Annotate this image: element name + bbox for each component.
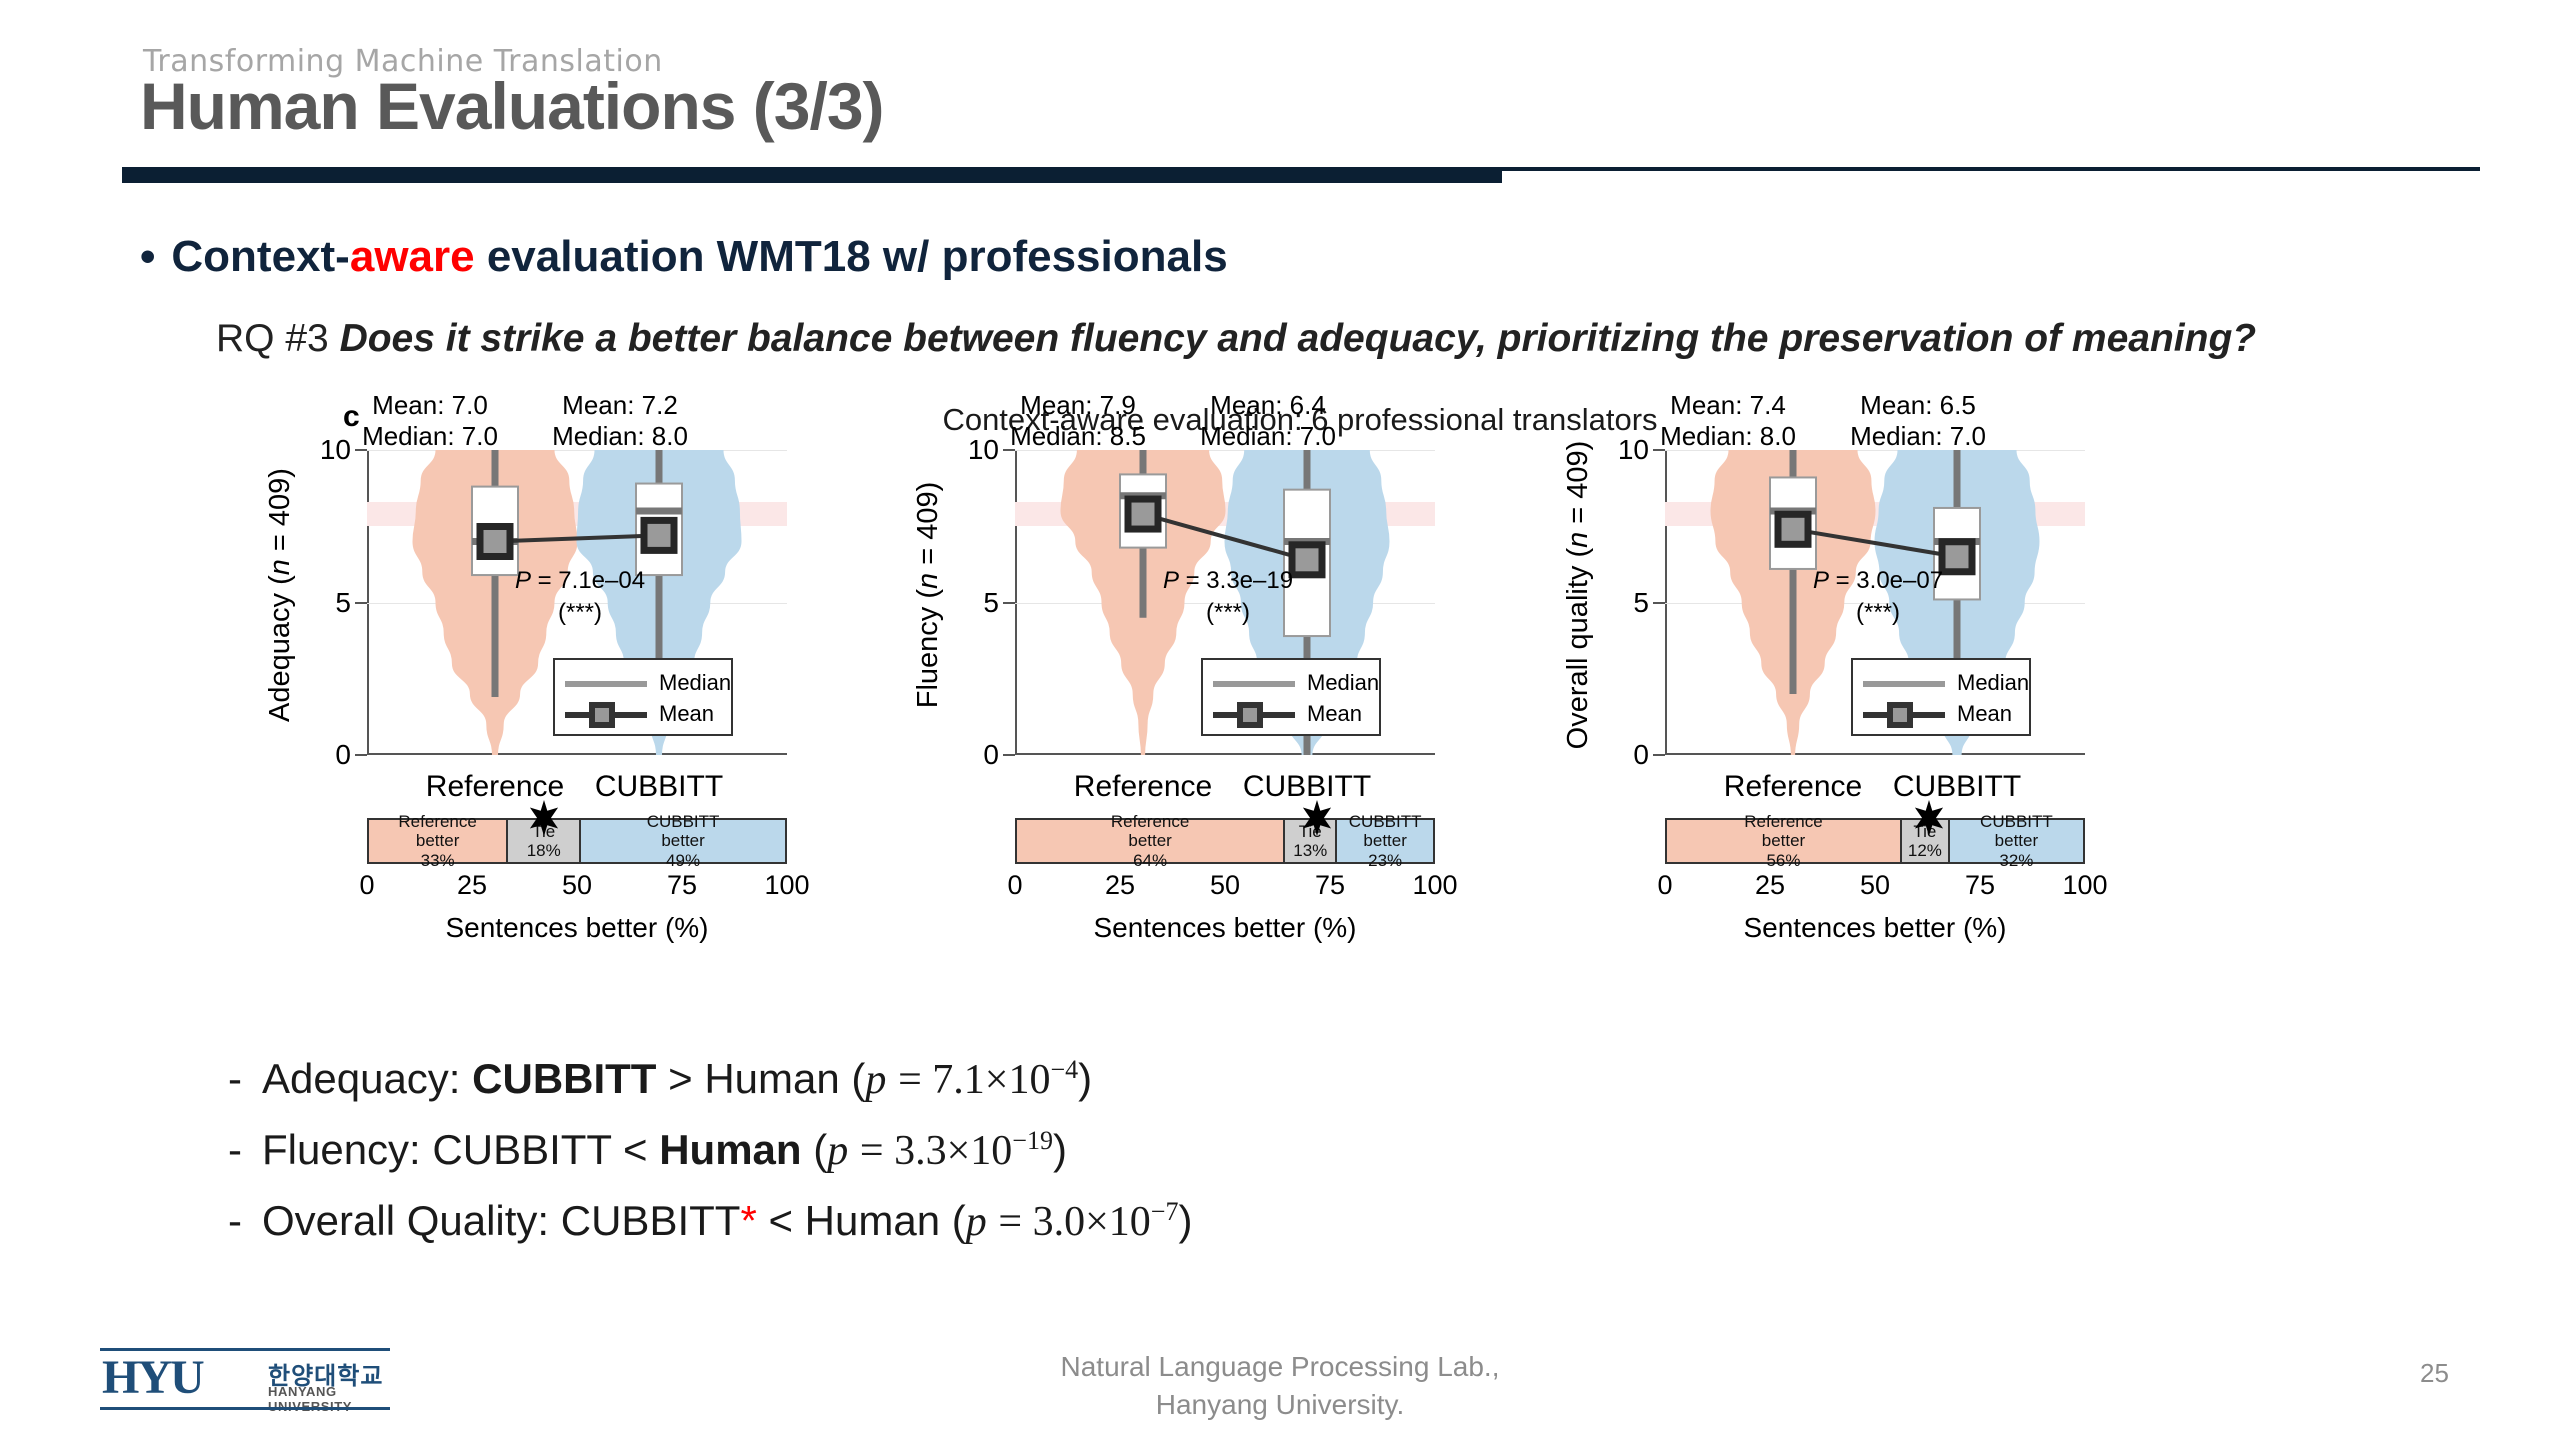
p-value-text: P = 7.1e–04 — [485, 565, 675, 597]
bar-x-tick: 50 — [562, 870, 592, 901]
finding-loser: Human — [805, 1197, 940, 1244]
median-text: Median: 8.5 — [968, 421, 1188, 452]
category-label-reference: Reference — [1724, 770, 1862, 804]
footer-note: Natural Language Processing Lab.,Hanyang… — [0, 1348, 2560, 1424]
segment-label: better — [661, 831, 704, 850]
slide-header: Transforming Machine Translation Human E… — [0, 0, 2560, 190]
bar-x-tick: 75 — [1315, 870, 1345, 901]
mean-text: Mean: 7.9 — [968, 390, 1188, 421]
main-bullet: •Context-aware evaluation WMT18 w/ profe… — [140, 232, 1228, 282]
page-title: Human Evaluations (3/3) — [140, 68, 884, 144]
sentences-better-bar: Referencebetter56%Tie12%CUBBITTbetter32%… — [1665, 818, 2085, 944]
bar-segment-cub: CUBBITTbetter32% — [1950, 820, 2083, 862]
bar-segment-ref: Referencebetter56% — [1667, 820, 1900, 862]
bar-x-tick: 50 — [1860, 870, 1890, 901]
segment-value: 56% — [1766, 851, 1800, 870]
bar-segment-ref: Referencebetter33% — [369, 820, 506, 862]
y-tick — [1653, 449, 1665, 451]
stacked-bar: Referencebetter33%Tie18%CUBBITTbetter49% — [367, 818, 787, 864]
star-icon — [1299, 800, 1335, 836]
median-text: Median: 7.0 — [1808, 421, 2028, 452]
sentences-better-bar: Referencebetter33%Tie18%CUBBITTbetter49%… — [367, 818, 787, 944]
group-stats-cubbitt: Mean: 7.2Median: 8.0 — [510, 390, 730, 451]
y-tick — [355, 602, 367, 604]
footer-note-line: Natural Language Processing Lab., — [0, 1348, 2560, 1386]
mean-text: Mean: 7.0 — [320, 390, 540, 421]
y-tick-label: 5 — [1633, 587, 1649, 619]
segment-value: 64% — [1133, 851, 1167, 870]
figure-panel: c Context-aware evaluation: 6 profession… — [300, 380, 2300, 1040]
segment-value: 23% — [1368, 851, 1402, 870]
findings-list: -Adequacy: CUBBITT > Human (p = 7.1×10−4… — [228, 1055, 1192, 1268]
violin-plot-3: Overall quality (n = 409)Mean: 7.4Median… — [1570, 440, 2210, 1040]
p-value: P = 3.0e–07(***) — [1783, 565, 1973, 630]
finding-pvalue: (p = 3.0×10−7) — [940, 1197, 1192, 1244]
segment-label: CUBBITT — [1349, 812, 1422, 831]
bar-x-caption: Sentences better (%) — [367, 912, 787, 944]
significance-stars: (***) — [485, 597, 675, 629]
y-tick-label: 0 — [1633, 739, 1649, 771]
finding-pvalue: (p = 3.3×10−19) — [802, 1126, 1067, 1173]
segment-label: Reference — [1111, 812, 1189, 831]
bullet-highlight: aware — [350, 232, 475, 281]
asterisk-marker: * — [740, 1197, 756, 1244]
median-text: Median: 7.0 — [1158, 421, 1378, 452]
legend-median-label: Median — [659, 670, 731, 696]
legend-mean-marker — [1887, 702, 1913, 728]
bar-segment-cub: CUBBITTbetter49% — [581, 820, 785, 862]
y-tick-label: 0 — [335, 739, 351, 771]
y-tick — [355, 449, 367, 451]
plot-legend: MedianMean — [553, 658, 733, 736]
y-tick-label: 5 — [335, 587, 351, 619]
bar-x-tick: 100 — [1412, 870, 1457, 901]
segment-label: better — [1363, 831, 1406, 850]
plot-axes: 1050P = 3.0e–07(***)MedianMean — [1665, 450, 2085, 755]
mean-text: Mean: 6.5 — [1808, 390, 2028, 421]
legend-mean-marker — [589, 702, 615, 728]
finding-item: -Fluency: CUBBITT < Human (p = 3.3×10−19… — [228, 1126, 1192, 1175]
sentences-better-bar: Referencebetter64%Tie13%CUBBITTbetter23%… — [1015, 818, 1435, 944]
plot-legend: MedianMean — [1851, 658, 2031, 736]
y-tick-label: 10 — [320, 434, 351, 466]
segment-label: better — [1762, 831, 1805, 850]
rq-question: Does it strike a better balance between … — [340, 317, 2257, 360]
plot-axes: 1050P = 3.3e–19(***)MedianMean — [1015, 450, 1435, 755]
legend-median-line — [1213, 681, 1295, 687]
segment-label: CUBBITT — [647, 812, 720, 831]
bar-segment-cub: CUBBITTbetter23% — [1337, 820, 1433, 862]
star-icon — [1911, 800, 1947, 836]
violin-plot-2: Fluency (n = 409)Mean: 7.9Median: 8.5Mea… — [920, 440, 1560, 1040]
finding-relation: < — [611, 1126, 659, 1173]
y-tick-label: 10 — [968, 434, 999, 466]
research-question-line: RQ #3 Does it strike a better balance be… — [216, 317, 2256, 361]
finding-relation: < — [757, 1197, 805, 1244]
title-underline-thick — [122, 167, 1502, 183]
finding-pvalue: (p = 7.1×10−4) — [840, 1055, 1092, 1102]
category-label-cubbitt: CUBBITT — [1243, 770, 1371, 804]
mean-text: Mean: 7.4 — [1618, 390, 1838, 421]
dash-bullet: - — [228, 1197, 262, 1245]
category-label-cubbitt: CUBBITT — [1893, 770, 2021, 804]
segment-value: 18% — [527, 841, 561, 860]
segment-value: 49% — [666, 851, 700, 870]
y-tick — [1003, 754, 1015, 756]
finding-winner: CUBBITT — [472, 1055, 656, 1102]
bar-axis-ticks: 0255075100 — [1665, 870, 2085, 904]
stacked-bar: Referencebetter64%Tie13%CUBBITTbetter23% — [1015, 818, 1435, 864]
legend-mean-label: Mean — [659, 701, 714, 727]
bar-x-tick: 25 — [1105, 870, 1135, 901]
segment-label: Reference — [398, 812, 476, 831]
p-value: P = 7.1e–04(***) — [485, 565, 675, 630]
plot-legend: MedianMean — [1201, 658, 1381, 736]
group-stats-reference: Mean: 7.4Median: 8.0 — [1618, 390, 1838, 451]
bullet-prefix: Context- — [171, 232, 349, 281]
bar-x-tick: 0 — [1007, 870, 1022, 901]
finding-item: -Overall Quality: CUBBITT* < Human (p = … — [228, 1197, 1192, 1246]
legend-median-line — [565, 681, 647, 687]
bullet-dot: • — [140, 232, 155, 282]
p-value: P = 3.3e–19(***) — [1133, 565, 1323, 630]
segment-label: better — [1128, 831, 1171, 850]
finding-item: -Adequacy: CUBBITT > Human (p = 7.1×10−4… — [228, 1055, 1192, 1104]
mean-text: Mean: 6.4 — [1158, 390, 1378, 421]
legend-mean-marker — [1237, 702, 1263, 728]
segment-label: Reference — [1744, 812, 1822, 831]
finding-winner: CUBBITT* — [561, 1197, 757, 1244]
p-value-text: P = 3.0e–07 — [1783, 565, 1973, 597]
segment-value: 32% — [1999, 851, 2033, 870]
y-tick-label: 5 — [983, 587, 999, 619]
category-label-reference: Reference — [426, 770, 564, 804]
footer-note-line: Hanyang University. — [0, 1386, 2560, 1424]
legend-median-label: Median — [1957, 670, 2029, 696]
segment-label: CUBBITT — [1980, 812, 2053, 831]
finding-loser: Human — [704, 1055, 839, 1102]
y-tick — [355, 754, 367, 756]
significance-stars: (***) — [1133, 597, 1323, 629]
finding-label: Overall Quality: — [262, 1197, 561, 1244]
bar-axis-ticks: 0255075100 — [367, 870, 787, 904]
segment-label: better — [1995, 831, 2038, 850]
median-text: Median: 8.0 — [510, 421, 730, 452]
segment-value: 13% — [1293, 841, 1327, 860]
group-stats-reference: Mean: 7.9Median: 8.5 — [968, 390, 1188, 451]
legend-mean-label: Mean — [1307, 701, 1362, 727]
bar-x-caption: Sentences better (%) — [1665, 912, 2085, 944]
bar-x-caption: Sentences better (%) — [1015, 912, 1435, 944]
y-axis-label: Adequacy (n = 409) — [264, 445, 297, 745]
plot-axes: 1050P = 7.1e–04(***)MedianMean — [367, 450, 787, 755]
median-text: Median: 7.0 — [320, 421, 540, 452]
rq-label: RQ #3 — [216, 317, 340, 360]
segment-value: 12% — [1908, 841, 1942, 860]
segment-value: 33% — [421, 851, 455, 870]
legend-mean-label: Mean — [1957, 701, 2012, 727]
y-tick — [1653, 602, 1665, 604]
bar-x-tick: 0 — [1657, 870, 1672, 901]
y-tick — [1003, 449, 1015, 451]
bar-x-tick: 75 — [1965, 870, 1995, 901]
bar-x-tick: 100 — [2062, 870, 2107, 901]
y-tick-label: 0 — [983, 739, 999, 771]
finding-label: Fluency: — [262, 1126, 432, 1173]
bar-axis-ticks: 0255075100 — [1015, 870, 1435, 904]
category-label-reference: Reference — [1074, 770, 1212, 804]
bullet-suffix: evaluation WMT18 w/ professionals — [475, 232, 1228, 281]
significance-stars: (***) — [1783, 597, 1973, 629]
bar-x-tick: 50 — [1210, 870, 1240, 901]
mean-text: Mean: 7.2 — [510, 390, 730, 421]
group-stats-cubbitt: Mean: 6.5Median: 7.0 — [1808, 390, 2028, 451]
legend-median-label: Median — [1307, 670, 1379, 696]
y-tick — [1003, 602, 1015, 604]
category-label-cubbitt: CUBBITT — [595, 770, 723, 804]
star-icon — [526, 800, 562, 836]
finding-loser: Human — [659, 1126, 801, 1173]
bar-x-tick: 25 — [457, 870, 487, 901]
violin-plot-1: Adequacy (n = 409)Mean: 7.0Median: 7.0Me… — [272, 440, 912, 1040]
bar-x-tick: 0 — [359, 870, 374, 901]
bar-segment-ref: Referencebetter64% — [1017, 820, 1283, 862]
bar-x-tick: 25 — [1755, 870, 1785, 901]
group-stats-cubbitt: Mean: 6.4Median: 7.0 — [1158, 390, 1378, 451]
y-tick-label: 10 — [1618, 434, 1649, 466]
bar-x-tick: 100 — [764, 870, 809, 901]
finding-relation: > — [656, 1055, 704, 1102]
finding-label: Adequacy: — [262, 1055, 472, 1102]
median-text: Median: 8.0 — [1618, 421, 1838, 452]
dash-bullet: - — [228, 1055, 262, 1103]
y-tick — [1653, 754, 1665, 756]
bar-x-tick: 75 — [667, 870, 697, 901]
legend-median-line — [1863, 681, 1945, 687]
group-stats-reference: Mean: 7.0Median: 7.0 — [320, 390, 540, 451]
y-axis-label: Overall quality (n = 409) — [1562, 430, 1595, 760]
finding-winner: CUBBITT — [432, 1126, 611, 1173]
p-value-text: P = 3.3e–19 — [1133, 565, 1323, 597]
dash-bullet: - — [228, 1126, 262, 1174]
stacked-bar: Referencebetter56%Tie12%CUBBITTbetter32% — [1665, 818, 2085, 864]
segment-label: better — [416, 831, 459, 850]
y-axis-label: Fluency (n = 409) — [912, 445, 945, 745]
page-number: 25 — [2420, 1358, 2449, 1389]
